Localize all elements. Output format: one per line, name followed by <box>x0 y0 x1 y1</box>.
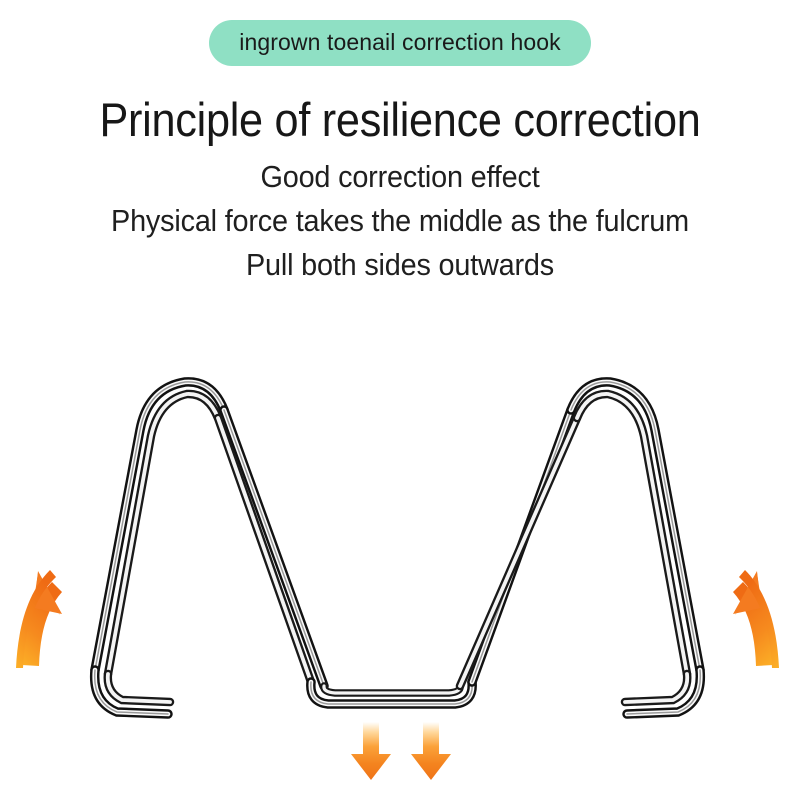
badge-row: ingrown toenail correction hook <box>0 20 800 66</box>
illustration-svg <box>0 330 800 800</box>
heading-block: Principle of resilience correction Good … <box>0 92 800 286</box>
right-leg-wire <box>571 382 700 714</box>
left-leg-wire <box>95 382 224 714</box>
page-root: ingrown toenail correction hook Principl… <box>0 0 800 800</box>
product-badge: ingrown toenail correction hook <box>209 20 590 66</box>
right-outward-arrow-icon <box>733 570 779 668</box>
subtitle-line-2: Physical force takes the middle as the f… <box>28 200 772 242</box>
right-inner-ascent <box>460 410 577 686</box>
product-illustration <box>0 330 800 800</box>
subtitle-line-1: Good correction effect <box>28 156 772 198</box>
wire-hook-shape <box>95 382 701 714</box>
left-outward-arrow-icon <box>16 570 62 668</box>
center-down-arrow-2-icon <box>411 722 451 780</box>
left-inner-descent <box>218 410 324 686</box>
center-u-fulcrum <box>311 682 472 704</box>
page-title: Principle of resilience correction <box>32 92 768 148</box>
center-down-arrow-1-icon <box>351 722 391 780</box>
subtitle-line-3: Pull both sides outwards <box>28 244 772 286</box>
